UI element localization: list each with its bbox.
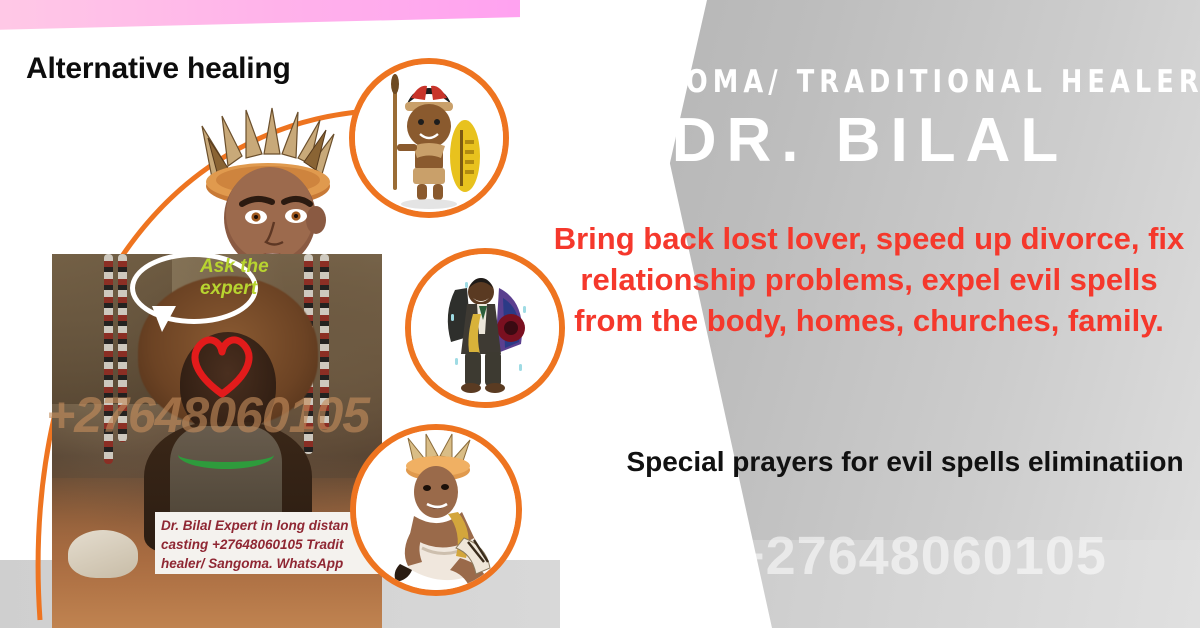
ask-the-expert-label: Ask the expert — [200, 256, 310, 300]
thumbnail-zulu-warrior[interactable] — [349, 58, 509, 218]
pink-accent-bar — [0, 0, 606, 30]
brand-name: DR. BILAL — [560, 105, 1180, 176]
thumbnail-traditional-dancer[interactable] — [350, 424, 522, 596]
kicker-text: SANGOMA/ TRADITIONAL HEALER — [585, 64, 1155, 100]
phone-watermark: +27648060105 — [640, 525, 1200, 587]
photo-phone-watermark: +27648060105 — [46, 386, 369, 444]
clay-bowl — [68, 530, 138, 578]
services-text: Bring back lost lover, speed up divorce,… — [545, 218, 1193, 342]
page-title: Alternative healing — [26, 52, 291, 86]
green-necklace — [178, 440, 274, 469]
thumbnail-healer-with-cape[interactable] — [405, 248, 565, 408]
poster-canvas: Alternative healing — [0, 0, 1200, 628]
offer-text: Special prayers for evil spells eliminat… — [620, 443, 1190, 480]
